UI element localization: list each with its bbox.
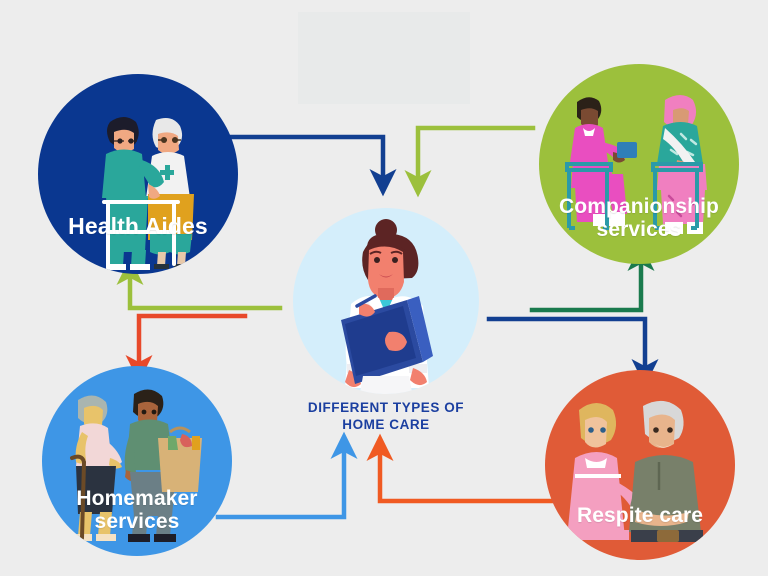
connector-center-to-respite [489,319,645,372]
connector-respite-to-center [380,448,553,501]
node-homemaker-label: Homemaker services [42,487,232,534]
node-companionship-label: Companionship services [539,195,739,242]
node-respite-care-label: Respite care [545,504,735,528]
node-companionship-services[interactable]: Companionship services [539,64,739,264]
connector-center-to-companionship [532,258,641,310]
caregiver-walker-illustration [38,74,238,274]
connector-center-to-homemaker [139,316,245,368]
nurse-with-elderly-man-illustration [545,370,735,560]
connector-center-to-health [130,272,280,308]
node-health-aides-label: Health Aides [38,214,238,240]
node-respite-care[interactable]: Respite care [545,370,735,560]
connector-health-to-center [225,137,383,182]
node-center-home-care[interactable] [293,208,479,394]
connector-companionship-to-center [418,128,533,183]
infographic-canvas: Health Aides [0,0,768,576]
connector-homemaker-to-center [218,446,344,517]
node-homemaker-services[interactable]: Homemaker services [42,366,232,556]
nurse-with-clipboard-illustration [293,208,479,394]
node-health-aides[interactable]: Health Aides [38,74,238,274]
